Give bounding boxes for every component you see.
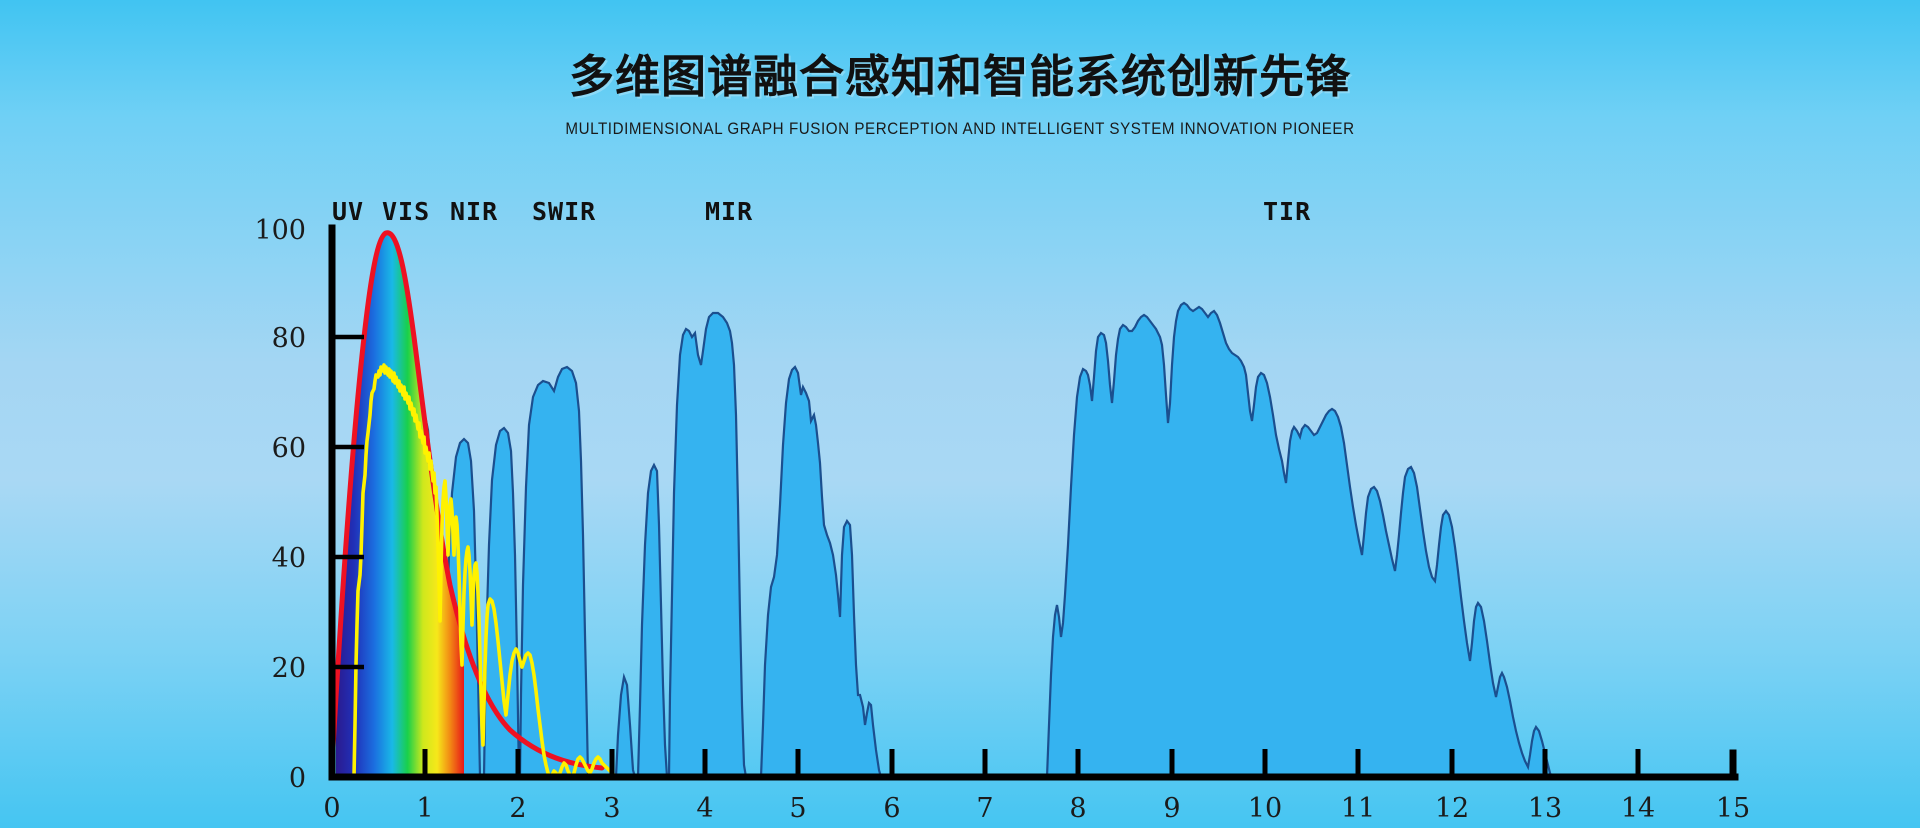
spectrum-chart: UV VIS NIR SWIR MIR TIR xyxy=(320,225,1740,790)
band-label-nir: NIR xyxy=(450,197,498,226)
x-tick-label-10: 10 xyxy=(1248,793,1282,824)
y-tick-labels: 0 20 40 60 80 100 xyxy=(254,215,306,794)
y-tick-label-40: 40 xyxy=(272,543,306,574)
transmission-window-mir-2 xyxy=(761,367,881,777)
transmission-window-tir xyxy=(1047,303,1552,777)
y-tick-label-20: 20 xyxy=(272,653,306,684)
x-tick-label-7: 7 xyxy=(976,793,993,824)
band-label-vis: VIS xyxy=(382,197,430,226)
page-subtitle: MULTIDIMENSIONAL GRAPH FUSION PERCEPTION… xyxy=(77,120,1843,139)
x-tick-label-15: 15 xyxy=(1716,793,1750,824)
x-tick-label-8: 8 xyxy=(1069,793,1086,824)
y-tick-label-60: 60 xyxy=(272,433,306,464)
x-tick-label-11: 11 xyxy=(1341,793,1375,824)
x-tick-label-0: 0 xyxy=(323,793,340,824)
page-title: 多维图谱融合感知和智能系统创新先锋 xyxy=(0,52,1920,102)
band-label-swir: SWIR xyxy=(532,197,596,226)
x-tick-label-9: 9 xyxy=(1163,793,1180,824)
spectrum-banner: 多维图谱融合感知和智能系统创新先锋 MULTIDIMENSIONAL GRAPH… xyxy=(0,0,1920,828)
x-tick-label-12: 12 xyxy=(1435,793,1469,824)
x-tick-label-4: 4 xyxy=(696,793,713,824)
transmission-window-mir-1 xyxy=(616,313,746,777)
transmission-windows xyxy=(348,303,1552,777)
band-label-mir: MIR xyxy=(705,197,753,226)
x-tick-label-2: 2 xyxy=(509,793,526,824)
x-tick-labels: 0 1 2 3 4 5 6 7 8 9 10 11 12 13 14 15 xyxy=(323,793,1750,824)
y-tick-label-100: 100 xyxy=(254,215,306,246)
x-tick-label-13: 13 xyxy=(1528,793,1562,824)
x-tick-label-14: 14 xyxy=(1621,793,1655,824)
band-label-tir: TIR xyxy=(1263,197,1311,226)
band-label-group: UV VIS NIR SWIR MIR TIR xyxy=(332,197,1311,226)
band-label-uv: UV xyxy=(332,197,364,226)
x-tick-label-6: 6 xyxy=(883,793,900,824)
x-tick-label-5: 5 xyxy=(789,793,806,824)
x-tick-label-1: 1 xyxy=(416,793,433,824)
title-block: 多维图谱融合感知和智能系统创新先锋 MULTIDIMENSIONAL GRAPH… xyxy=(0,52,1920,139)
x-tick-label-3: 3 xyxy=(603,793,620,824)
y-tick-label-0: 0 xyxy=(289,763,306,794)
chart-svg: UV VIS NIR SWIR MIR TIR xyxy=(320,225,1740,790)
transmission-window-swir xyxy=(520,367,588,777)
y-tick-label-80: 80 xyxy=(272,323,306,354)
